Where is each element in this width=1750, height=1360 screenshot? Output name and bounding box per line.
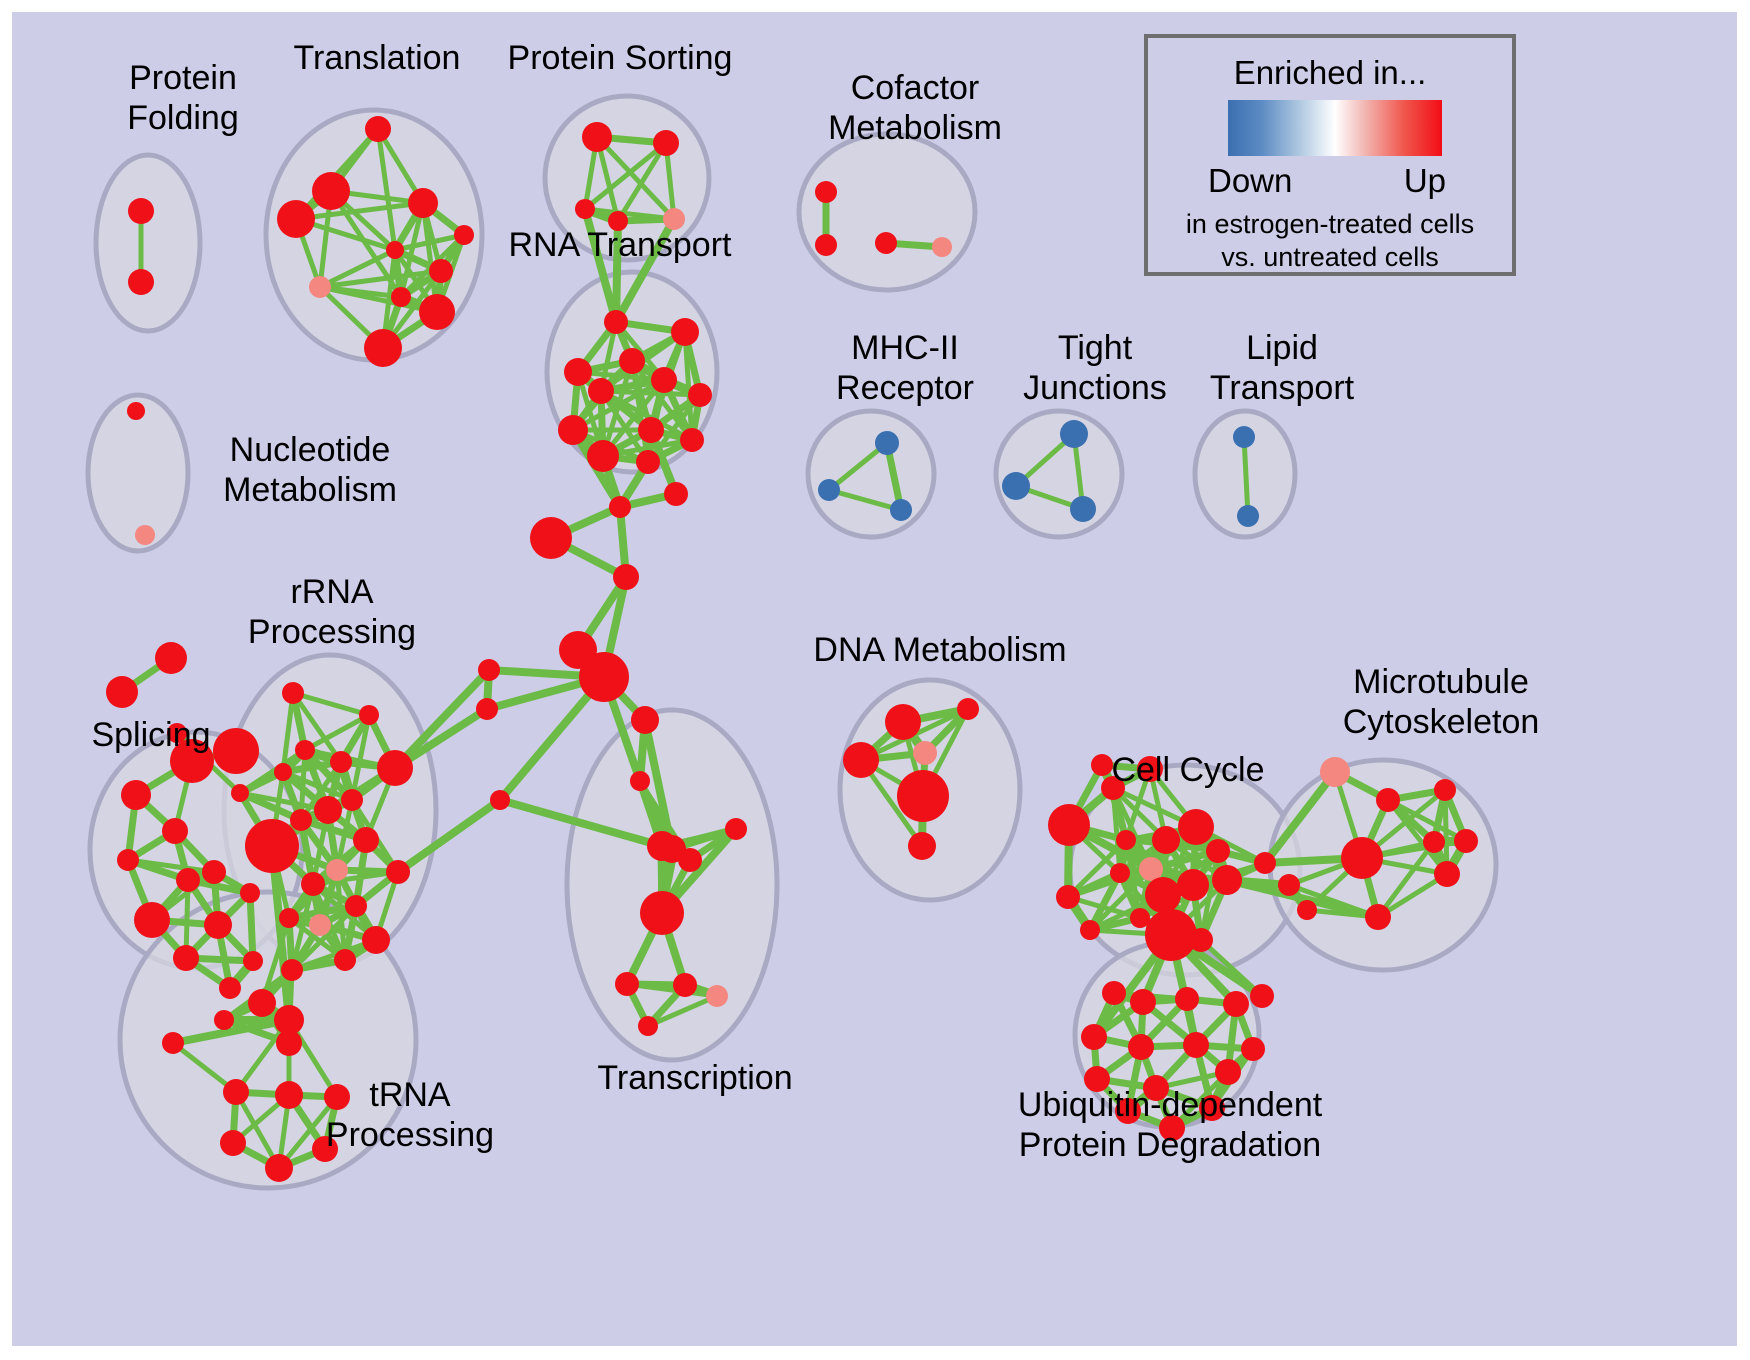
- network-node[interactable]: [1250, 984, 1274, 1008]
- cluster-label-cofactor-metabolism: Cofactor Metabolism: [790, 68, 1040, 148]
- network-node[interactable]: [245, 819, 299, 873]
- network-node[interactable]: [604, 310, 628, 334]
- network-node[interactable]: [128, 198, 154, 224]
- network-node[interactable]: [671, 318, 699, 346]
- network-node[interactable]: [932, 237, 952, 257]
- network-node[interactable]: [579, 652, 629, 702]
- network-node[interactable]: [575, 199, 595, 219]
- network-node[interactable]: [1110, 863, 1130, 883]
- network-node[interactable]: [134, 902, 170, 938]
- cluster-label-rna-transport: RNA Transport: [490, 225, 750, 265]
- figure-canvas: Protein FoldingTranslationProtein Sortin…: [0, 0, 1750, 1360]
- network-node[interactable]: [1102, 981, 1126, 1005]
- network-node[interactable]: [330, 751, 352, 773]
- network-node[interactable]: [478, 659, 500, 681]
- network-node[interactable]: [1130, 989, 1156, 1015]
- legend-title: Enriched in...: [1148, 54, 1512, 92]
- network-node[interactable]: [1237, 505, 1259, 527]
- network-node[interactable]: [1048, 804, 1090, 846]
- legend-caption: in estrogen-treated cells vs. untreated …: [1148, 208, 1512, 274]
- network-node[interactable]: [651, 367, 677, 393]
- network-node[interactable]: [279, 908, 299, 928]
- network-node[interactable]: [1080, 920, 1100, 940]
- network-node[interactable]: [1056, 885, 1080, 909]
- network-node[interactable]: [636, 450, 660, 474]
- network-node[interactable]: [359, 705, 379, 725]
- network-node[interactable]: [364, 329, 402, 367]
- network-node[interactable]: [638, 1016, 658, 1036]
- network-node[interactable]: [530, 517, 572, 559]
- cluster-label-trna-processing: tRNA Processing: [300, 1075, 520, 1155]
- network-node[interactable]: [240, 883, 260, 903]
- network-node[interactable]: [1320, 757, 1350, 787]
- network-node[interactable]: [301, 872, 325, 896]
- network-node[interactable]: [408, 188, 438, 218]
- network-node[interactable]: [121, 780, 151, 810]
- network-node[interactable]: [312, 172, 350, 210]
- cluster-ellipse-mhc-ii-receptor: [808, 411, 934, 537]
- cluster-label-lipid-transport: Lipid Transport: [1172, 328, 1392, 408]
- network-node[interactable]: [281, 959, 303, 981]
- network-node[interactable]: [314, 796, 342, 824]
- network-node[interactable]: [386, 860, 410, 884]
- network-node[interactable]: [688, 383, 712, 407]
- network-node[interactable]: [673, 973, 697, 997]
- network-node[interactable]: [386, 241, 404, 259]
- network-node[interactable]: [345, 895, 367, 917]
- network-node[interactable]: [1434, 779, 1456, 801]
- cluster-label-nucleotide-metabolism: Nucleotide Metabolism: [185, 430, 435, 510]
- network-node[interactable]: [231, 784, 249, 802]
- network-node[interactable]: [275, 1081, 303, 1109]
- network-node[interactable]: [204, 911, 232, 939]
- network-node[interactable]: [214, 1010, 234, 1030]
- network-node[interactable]: [1177, 869, 1209, 901]
- network-node[interactable]: [630, 771, 650, 791]
- network-node[interactable]: [957, 698, 979, 720]
- cluster-label-rrna-processing: rRNA Processing: [222, 572, 442, 652]
- network-node[interactable]: [176, 868, 200, 892]
- network-node[interactable]: [890, 499, 912, 521]
- network-node[interactable]: [615, 972, 639, 996]
- network-node[interactable]: [128, 269, 154, 295]
- network-node[interactable]: [1454, 829, 1478, 853]
- network-node[interactable]: [490, 790, 510, 810]
- network-node[interactable]: [1206, 839, 1230, 863]
- network-node[interactable]: [1116, 830, 1136, 850]
- cluster-label-transcription: Transcription: [570, 1058, 820, 1098]
- network-node[interactable]: [609, 496, 631, 518]
- network-node[interactable]: [334, 949, 356, 971]
- legend-box: Enriched in... Down Up in estrogen-treat…: [1144, 34, 1516, 276]
- network-node[interactable]: [587, 440, 619, 472]
- network-node[interactable]: [274, 1005, 304, 1035]
- network-node[interactable]: [913, 741, 937, 765]
- network-node[interactable]: [1152, 826, 1180, 854]
- cluster-label-translation: Translation: [252, 38, 502, 78]
- network-node[interactable]: [1241, 1037, 1265, 1061]
- network-node[interactable]: [162, 1032, 184, 1054]
- network-node[interactable]: [1223, 991, 1249, 1017]
- cluster-label-protein-sorting: Protein Sorting: [490, 38, 750, 78]
- network-node[interactable]: [1434, 861, 1460, 887]
- network-node[interactable]: [1183, 1032, 1209, 1058]
- network-node[interactable]: [365, 116, 391, 142]
- network-node[interactable]: [1423, 831, 1445, 853]
- cluster-label-cell-cycle: Cell Cycle: [1078, 750, 1298, 790]
- network-node[interactable]: [265, 1154, 293, 1182]
- network-node[interactable]: [1341, 837, 1383, 879]
- network-node[interactable]: [908, 832, 936, 860]
- edge: [250, 893, 253, 961]
- network-node[interactable]: [875, 431, 899, 455]
- network-node[interactable]: [454, 225, 474, 245]
- network-node[interactable]: [429, 259, 453, 283]
- network-node[interactable]: [1254, 852, 1276, 874]
- network-node[interactable]: [558, 415, 588, 445]
- cluster-ellipse-transcription: [567, 710, 777, 1060]
- network-node[interactable]: [638, 417, 664, 443]
- network-node[interactable]: [243, 951, 263, 971]
- network-node[interactable]: [274, 763, 292, 781]
- cluster-label-dna-metabolism: DNA Metabolism: [800, 630, 1080, 670]
- network-node[interactable]: [1278, 874, 1300, 896]
- network-node[interactable]: [1189, 928, 1213, 952]
- legend-high-label: Up: [1404, 162, 1446, 200]
- network-node[interactable]: [1365, 904, 1391, 930]
- network-node[interactable]: [1060, 420, 1088, 448]
- network-node[interactable]: [277, 200, 315, 238]
- network-node[interactable]: [1175, 987, 1199, 1011]
- cluster-label-mhc-ii-receptor: MHC-II Receptor: [795, 328, 1015, 408]
- network-node[interactable]: [1145, 909, 1197, 961]
- network-node[interactable]: [173, 945, 199, 971]
- network-node[interactable]: [588, 378, 614, 404]
- network-node[interactable]: [875, 232, 897, 254]
- network-node[interactable]: [419, 294, 455, 330]
- network-node[interactable]: [631, 706, 659, 734]
- network-node[interactable]: [135, 525, 155, 545]
- network-node[interactable]: [564, 358, 592, 386]
- network-node[interactable]: [309, 276, 331, 298]
- network-node[interactable]: [663, 839, 681, 857]
- network-node[interactable]: [353, 827, 379, 853]
- network-node[interactable]: [476, 698, 498, 720]
- network-node[interactable]: [1215, 1059, 1241, 1085]
- network-node[interactable]: [117, 849, 139, 871]
- network-node[interactable]: [127, 402, 145, 420]
- network-node[interactable]: [1081, 1024, 1107, 1050]
- network-node[interactable]: [220, 1130, 246, 1156]
- legend-low-label: Down: [1208, 162, 1292, 200]
- network-node[interactable]: [326, 859, 348, 881]
- network-node[interactable]: [1233, 426, 1255, 448]
- network-node[interactable]: [582, 122, 612, 152]
- network-node[interactable]: [223, 1079, 249, 1105]
- network-node[interactable]: [843, 742, 879, 778]
- network-node[interactable]: [341, 789, 363, 811]
- network-node[interactable]: [282, 682, 304, 704]
- network-node[interactable]: [1070, 496, 1096, 522]
- network-node[interactable]: [219, 977, 241, 999]
- network-node[interactable]: [640, 891, 684, 935]
- cluster-label-splicing: Splicing: [56, 715, 246, 755]
- network-node[interactable]: [162, 818, 188, 844]
- network-node[interactable]: [818, 479, 840, 501]
- network-node[interactable]: [248, 989, 276, 1017]
- network-node[interactable]: [1128, 1034, 1154, 1060]
- network-node[interactable]: [1297, 900, 1317, 920]
- network-node[interactable]: [391, 287, 411, 307]
- network-node[interactable]: [653, 130, 679, 156]
- network-node[interactable]: [619, 348, 645, 374]
- cluster-label-ubiquitin-protein-degradation: Ubiquitin-dependent Protein Degradation: [990, 1085, 1350, 1165]
- network-node[interactable]: [309, 914, 331, 936]
- network-node[interactable]: [362, 926, 390, 954]
- network-node[interactable]: [815, 181, 837, 203]
- network-node[interactable]: [155, 642, 187, 674]
- network-node[interactable]: [1376, 788, 1400, 812]
- cluster-ellipse-protein-folding: [96, 155, 200, 331]
- cluster-label-microtubule-cytoskeleton: Microtubule Cytoskeleton: [1296, 662, 1586, 742]
- network-node[interactable]: [815, 234, 837, 256]
- network-node[interactable]: [678, 848, 702, 872]
- network-node[interactable]: [680, 428, 704, 452]
- network-node[interactable]: [1212, 865, 1242, 895]
- network-node[interactable]: [613, 564, 639, 590]
- network-node[interactable]: [290, 809, 312, 831]
- network-node[interactable]: [897, 770, 949, 822]
- network-node[interactable]: [295, 740, 315, 760]
- network-node[interactable]: [1145, 877, 1181, 913]
- legend-color-gradient: [1228, 100, 1442, 156]
- network-node[interactable]: [1002, 472, 1030, 500]
- network-node[interactable]: [664, 482, 688, 506]
- network-node[interactable]: [1178, 809, 1214, 845]
- network-node[interactable]: [202, 860, 226, 884]
- network-node[interactable]: [725, 818, 747, 840]
- network-node[interactable]: [106, 676, 138, 708]
- network-node[interactable]: [885, 704, 921, 740]
- network-node[interactable]: [706, 985, 728, 1007]
- network-node[interactable]: [377, 750, 413, 786]
